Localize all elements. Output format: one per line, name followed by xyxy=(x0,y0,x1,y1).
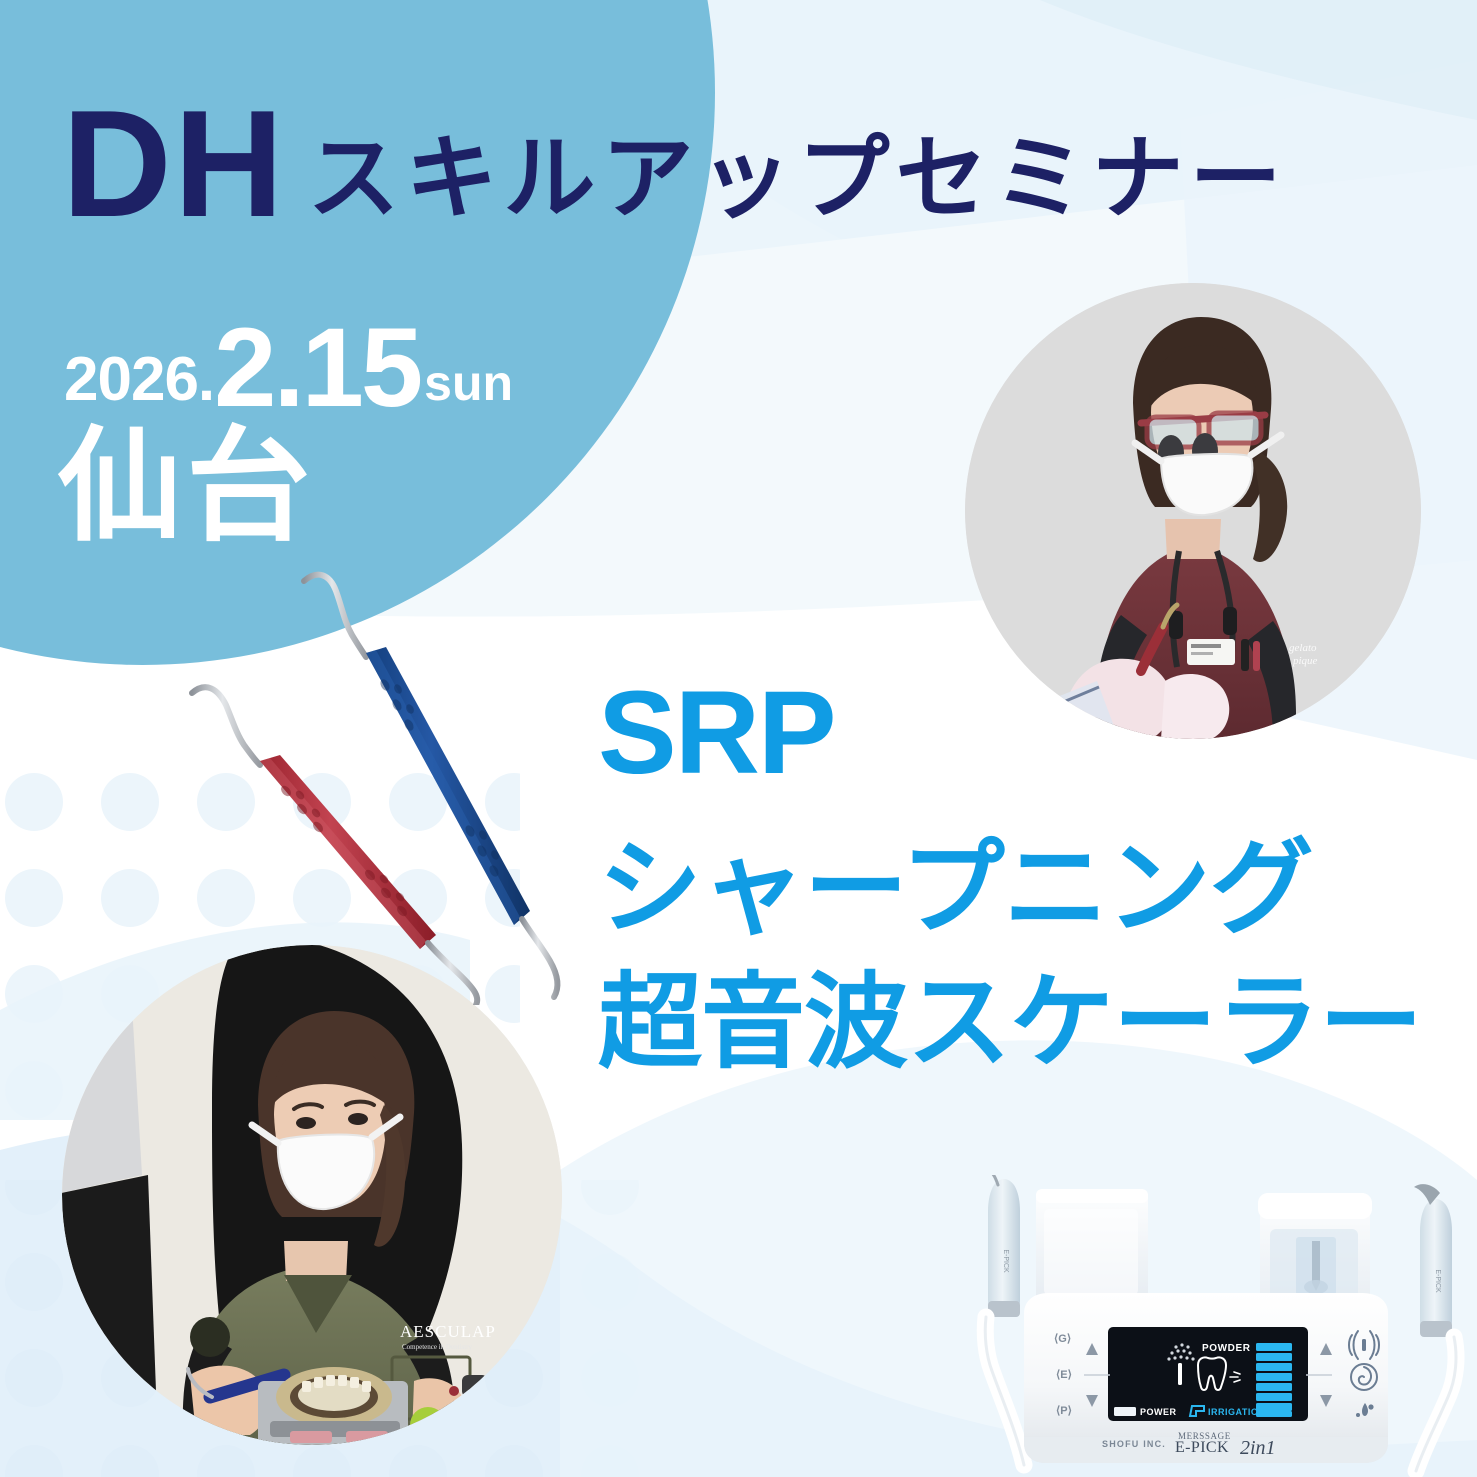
dental-scaler-instruments xyxy=(170,545,640,1005)
svg-text:AESCULAP: AESCULAP xyxy=(400,1322,496,1341)
scaler-red-handle xyxy=(192,687,477,1005)
svg-text:⟨G⟩: ⟨G⟩ xyxy=(1054,1333,1071,1345)
handpiece-right: E-PICK xyxy=(1414,1184,1456,1471)
svg-text:⟨P⟩: ⟨P⟩ xyxy=(1056,1405,1072,1417)
handpiece-left: E-PICK xyxy=(985,1175,1024,1465)
svg-text:⟨E⟩: ⟨E⟩ xyxy=(1056,1369,1072,1381)
ultrasonic-scaler-device: E-PICK E-PICK xyxy=(960,1175,1477,1477)
date-weekday: sun xyxy=(424,358,513,408)
photo-hygienist-with-model: AESCULAP Competence in Dentistry xyxy=(62,945,562,1445)
event-date: 2026. 2.15 sun xyxy=(64,306,513,418)
svg-text:Competence in Dentistry: Competence in Dentistry xyxy=(402,1343,472,1351)
event-city: 仙台 xyxy=(58,425,314,549)
device-product-suffix: 2in1 xyxy=(1240,1437,1276,1459)
date-day: 2.15 xyxy=(214,312,420,424)
display-powder-label: POWDER xyxy=(1202,1343,1251,1354)
device-display: POWDER POWER xyxy=(1108,1327,1308,1421)
powder-chamber xyxy=(1036,1189,1148,1307)
title-subtitle-text: スキルアップセミナー xyxy=(308,133,1288,225)
headline-ultrasonic-scaler: 超音波スケーラー xyxy=(598,969,1422,1077)
device-brand-text: SHOFU INC. xyxy=(1102,1439,1166,1449)
headline-sharpening: シャープニング xyxy=(598,835,1422,943)
display-irrigation-label: IRRIGATION xyxy=(1208,1407,1265,1417)
title-dh-text: DH xyxy=(62,88,286,240)
device-product-name: E-PICK xyxy=(1175,1439,1229,1456)
display-power-label: POWER xyxy=(1140,1407,1177,1417)
svg-text:E-PICK: E-PICK xyxy=(1434,1269,1441,1293)
svg-text:pique: pique xyxy=(1292,655,1318,667)
date-year: 2026. xyxy=(64,349,214,411)
main-headline: SRP シャープニング 超音波スケーラー xyxy=(598,672,1422,1077)
seminar-title: DH スキルアップセミナー xyxy=(62,88,1288,240)
headline-srp: SRP xyxy=(598,672,1422,795)
poster-root: DH スキルアップセミナー 2026. 2.15 sun 仙台 xyxy=(0,0,1477,1477)
svg-text:gelato: gelato xyxy=(1289,642,1317,654)
svg-text:E-PICK: E-PICK xyxy=(1002,1249,1009,1273)
photo-hygienist-with-loupes: gelato pique xyxy=(965,283,1421,739)
display-level-bars xyxy=(1256,1343,1292,1417)
